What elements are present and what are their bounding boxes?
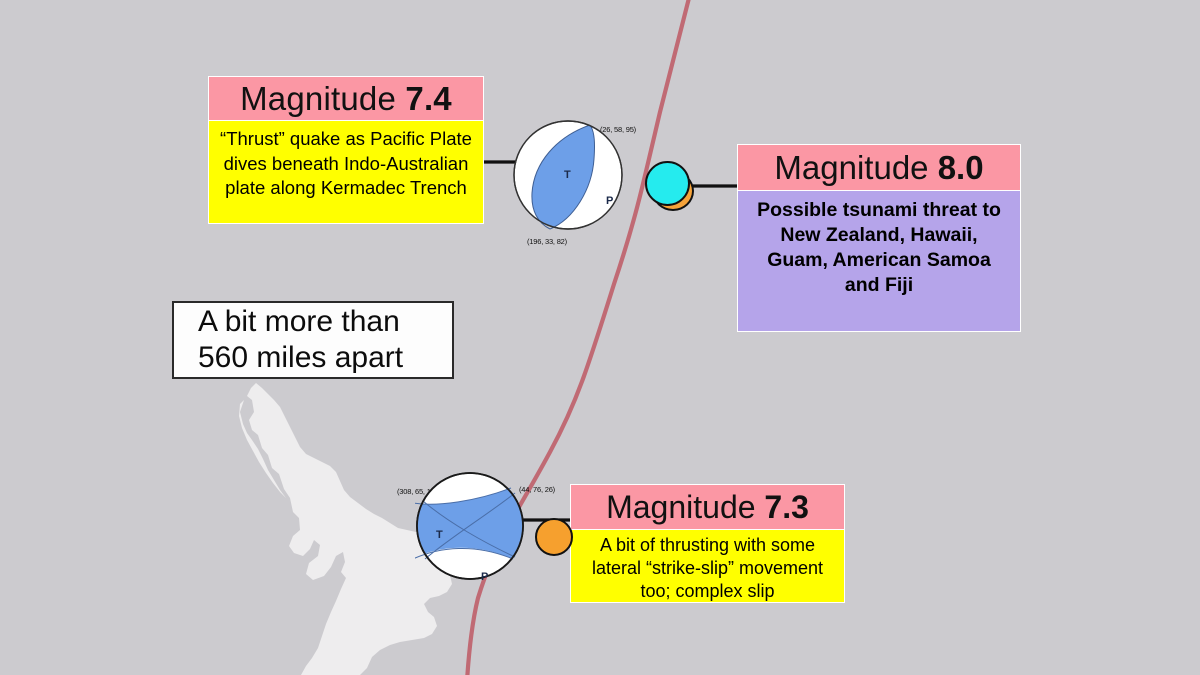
callout-74-body: “Thrust” quake as Pacific Plate dives be… [209,121,483,223]
callout-magnitude-73[interactable]: Magnitude 7.3 A bit of thrusting with so… [570,484,845,603]
beachball-north-p-axis-label: P [606,195,613,207]
callout-73-header: Magnitude 7.3 [571,485,844,530]
epicentre-south-marker[interactable] [535,518,573,556]
beachball-north-nodal-label-bottom: (196, 33, 82) [527,237,567,246]
callout-80-header-value: 8.0 [938,149,984,186]
distance-note-line-1: A bit more than [198,304,452,340]
distance-note-line-2: 560 miles apart [198,340,452,376]
callout-magnitude-80[interactable]: Magnitude 8.0 Possible tsunami threat to… [737,144,1021,332]
beachball-south-p-axis-label: P [481,571,488,583]
callout-73-body: A bit of thrusting with some lateral “st… [571,530,844,602]
callout-80-header-word: Magnitude [774,149,937,186]
coromandel-peninsula [324,492,347,534]
callout-73-header-word: Magnitude [606,489,764,525]
callout-74-header-word: Magnitude [240,80,405,117]
callout-74-header: Magnitude 7.4 [209,77,483,121]
callout-magnitude-74[interactable]: Magnitude 7.4 “Thrust” quake as Pacific … [208,76,484,224]
callout-80-body: Possible tsunami threat to New Zealand, … [738,191,1020,331]
epicentre-main-marker[interactable] [645,161,690,206]
callout-80-header: Magnitude 8.0 [738,145,1020,191]
beachball-north-t-axis-label: T [564,169,571,181]
beachball-north: T P [512,119,624,231]
north-island-northern-tip [239,400,286,498]
distance-note-box: A bit more than 560 miles apart [172,301,454,379]
callout-73-header-value: 7.3 [764,489,808,525]
beachball-south-t-axis-label: T [436,529,443,541]
beachball-south: T P [415,471,525,581]
callout-74-header-value: 7.4 [405,80,451,117]
infographic-canvas: T P (26, 58, 95) (196, 33, 82) T P (308,… [0,0,1200,675]
